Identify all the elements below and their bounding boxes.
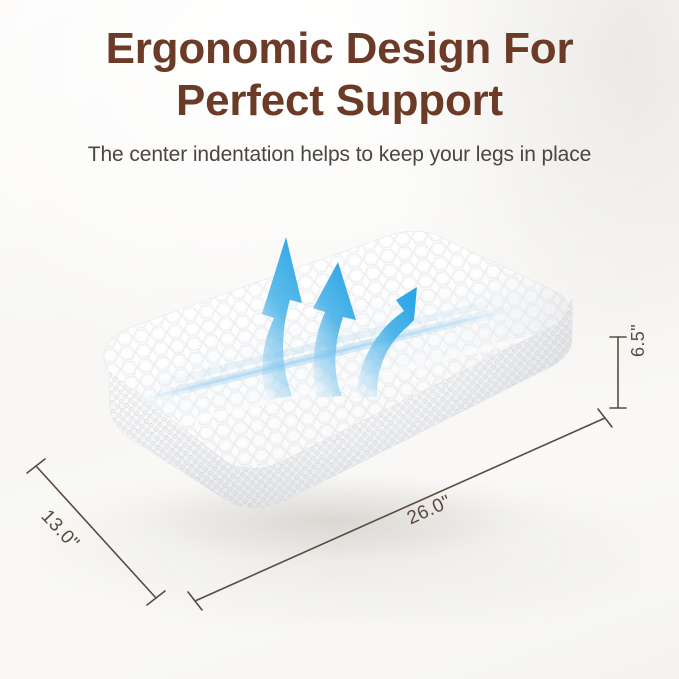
product-contact-shadow [72,468,588,572]
product-feature-image: Ergonomic Design For Perfect Support The… [0,0,679,679]
dimension-line-height [610,337,626,408]
product-illustration [0,0,679,679]
dimension-label-height: 6.5" [628,324,649,357]
